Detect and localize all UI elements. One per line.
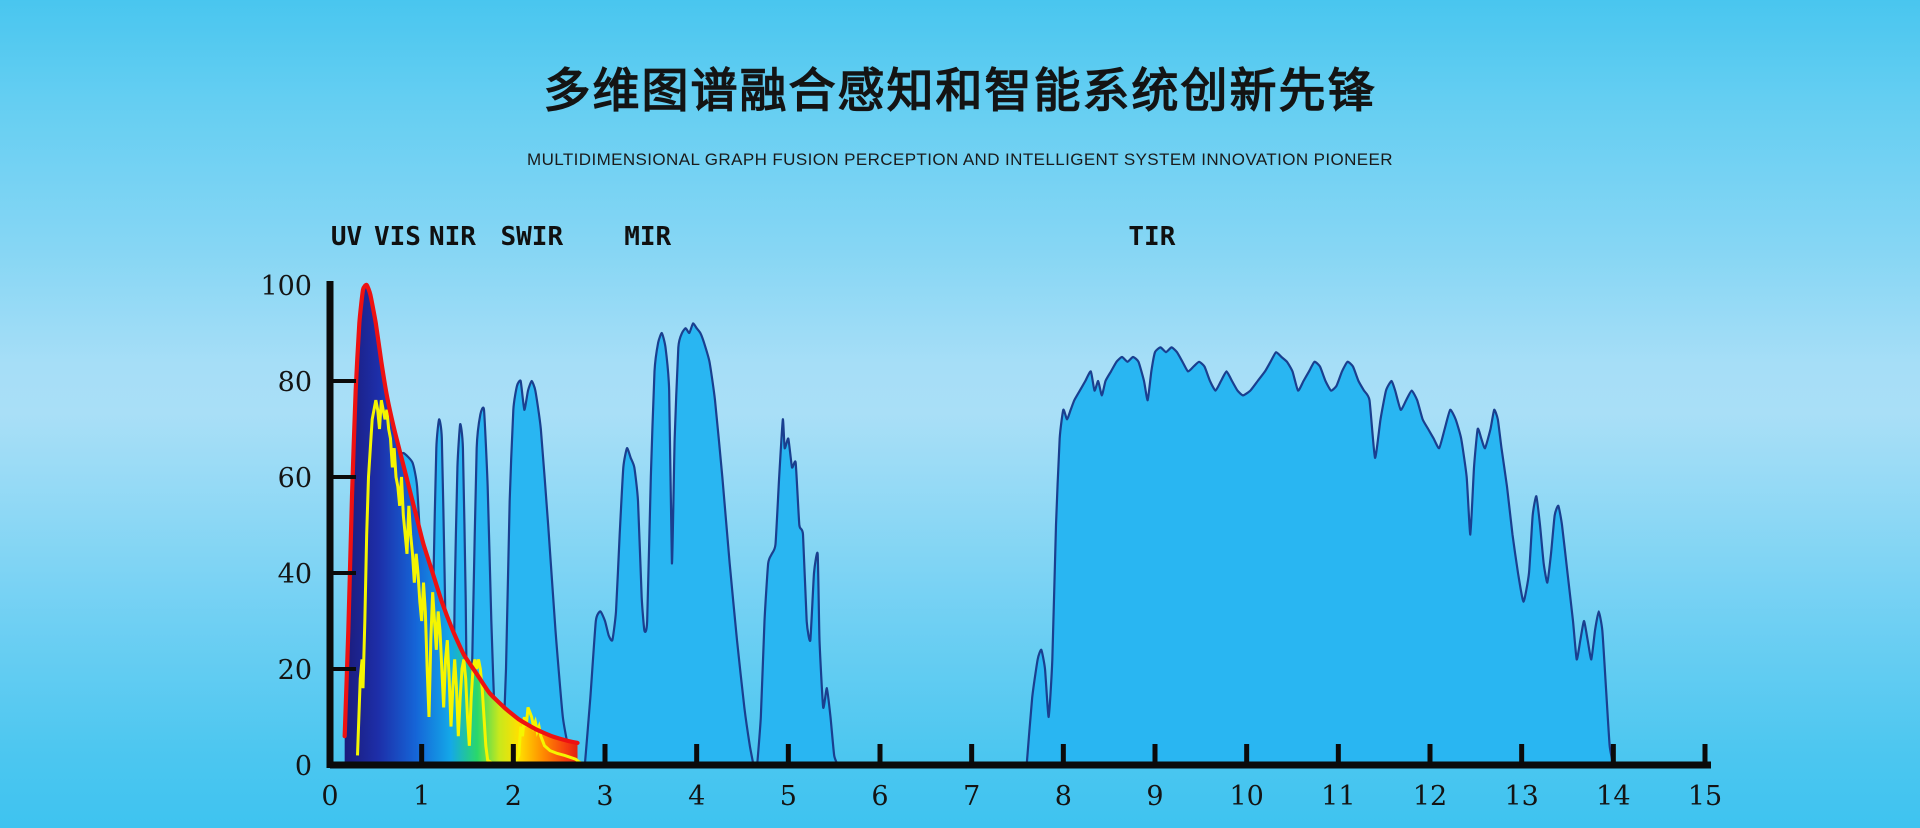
transmission-band-lobe <box>757 419 838 765</box>
x-tick-label: 1 <box>413 781 430 812</box>
x-tick-label: 9 <box>1146 781 1163 812</box>
transmission-bands-layer <box>356 323 1614 765</box>
transmission-band-lobe <box>502 380 577 765</box>
y-tick-label: 80 <box>278 367 312 398</box>
x-tick-label: 4 <box>688 781 705 812</box>
transmission-band-lobe <box>1027 347 1614 765</box>
y-tick-label: 60 <box>278 463 312 494</box>
x-tick-label: 11 <box>1321 781 1355 812</box>
x-tick-label: 12 <box>1413 781 1447 812</box>
x-tick-label: 5 <box>780 781 797 812</box>
transmission-band-lobe <box>585 323 754 765</box>
x-tick-label: 3 <box>596 781 613 812</box>
y-tick-label: 20 <box>278 655 312 686</box>
x-tick-label: 13 <box>1504 781 1538 812</box>
x-tick-label: 2 <box>505 781 522 812</box>
x-tick-label: 14 <box>1596 781 1630 812</box>
y-tick-label: 0 <box>295 751 312 782</box>
y-tick-label: 40 <box>278 559 312 590</box>
x-tick-label: 15 <box>1688 781 1722 812</box>
x-tick-label: 7 <box>963 781 980 812</box>
x-tick-label: 6 <box>871 781 888 812</box>
x-tick-label: 0 <box>321 781 338 812</box>
x-tick-label: 8 <box>1055 781 1072 812</box>
spectral-chart: 0123456789101112131415020406080100 <box>0 0 1920 828</box>
y-tick-label: 100 <box>260 271 312 302</box>
x-tick-label: 10 <box>1229 781 1263 812</box>
